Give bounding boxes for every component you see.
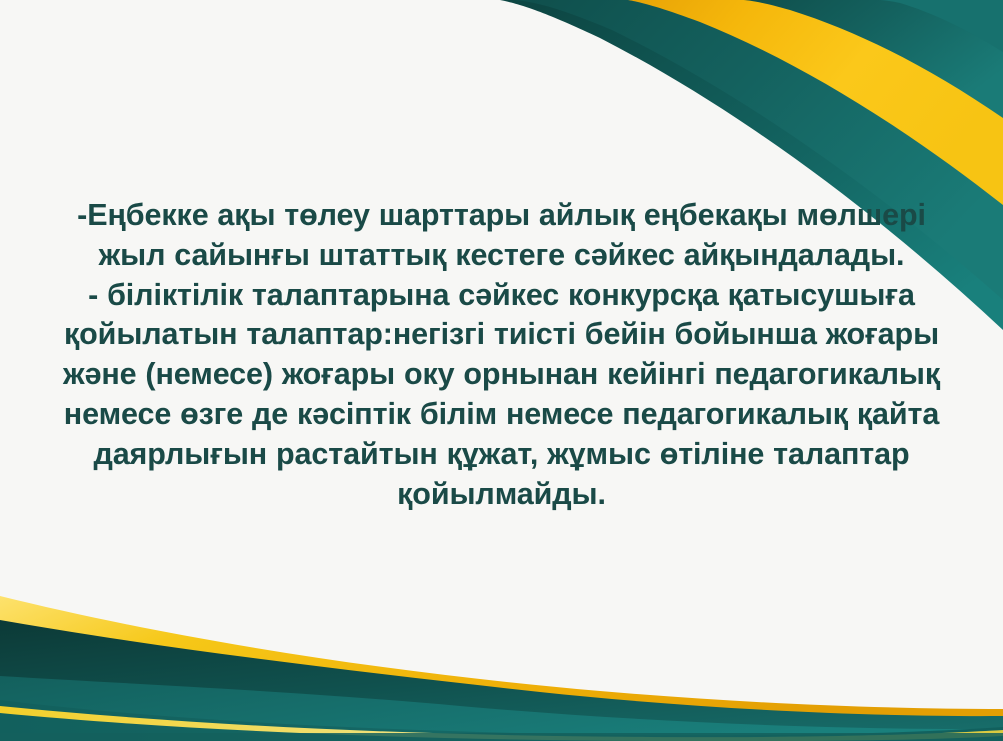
slide-content-layer: -Еңбекке ақы төлеу шарттары айлық еңбека… <box>0 0 1003 741</box>
presentation-slide: -Еңбекке ақы төлеу шарттары айлық еңбека… <box>0 0 1003 741</box>
slide-body-text: -Еңбекке ақы төлеу шарттары айлық еңбека… <box>62 196 942 514</box>
